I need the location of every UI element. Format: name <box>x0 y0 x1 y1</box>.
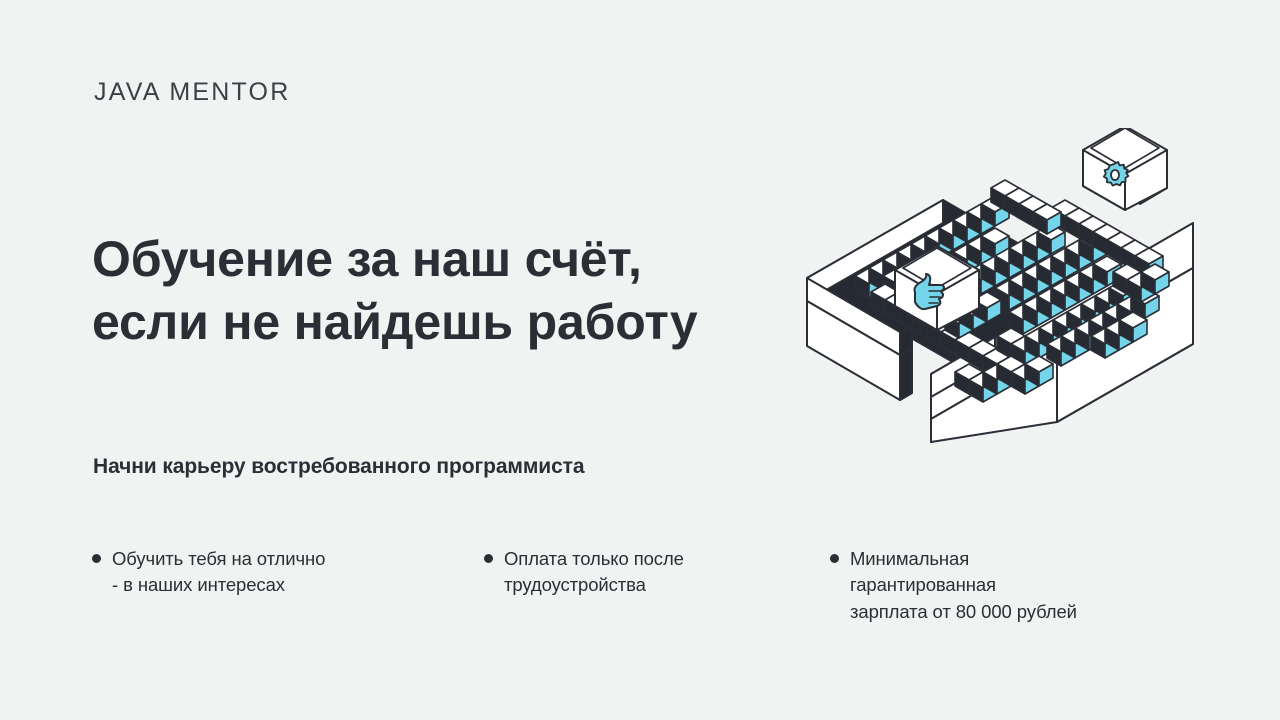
bullet-dot-icon <box>484 554 493 563</box>
slide-canvas: JAVA MENTOR Обучение за наш счёт, если н… <box>0 0 1280 720</box>
list-item-line: зарплата от 80 000 рублей <box>850 599 1077 625</box>
list-item-text: Обучить тебя на отлично - в наших интере… <box>112 546 325 599</box>
bullet-dot-icon <box>92 554 101 563</box>
list-item: Обучить тебя на отлично - в наших интере… <box>92 546 452 599</box>
bullet-dot-icon <box>830 554 839 563</box>
list-item-line: гарантированная <box>850 572 1077 598</box>
headline-line-2: если не найдешь работу <box>92 291 822 354</box>
list-item-line: Оплата только после <box>504 546 684 572</box>
isometric-maze-illustration <box>795 128 1205 458</box>
list-item: Оплата только после трудоустройства <box>484 546 814 599</box>
list-item-line: - в наших интересах <box>112 572 325 598</box>
list-item-line: Обучить тебя на отлично <box>112 546 325 572</box>
list-item-line: Минимальная <box>850 546 1077 572</box>
list-item-text: Оплата только после трудоустройства <box>504 546 684 599</box>
maze-graphic <box>795 128 1205 458</box>
gear-badge <box>1083 128 1167 210</box>
list-item: Минимальная гарантированная зарплата от … <box>830 546 1200 625</box>
subtitle: Начни карьеру востребованного программис… <box>93 455 584 479</box>
headline-line-1: Обучение за наш счёт, <box>92 228 822 291</box>
brand-logo: JAVA MENTOR <box>94 78 290 107</box>
list-item-line: трудоустройства <box>504 572 684 598</box>
page-title: Обучение за наш счёт, если не найдешь ра… <box>92 228 822 354</box>
list-item-text: Минимальная гарантированная зарплата от … <box>850 546 1077 625</box>
